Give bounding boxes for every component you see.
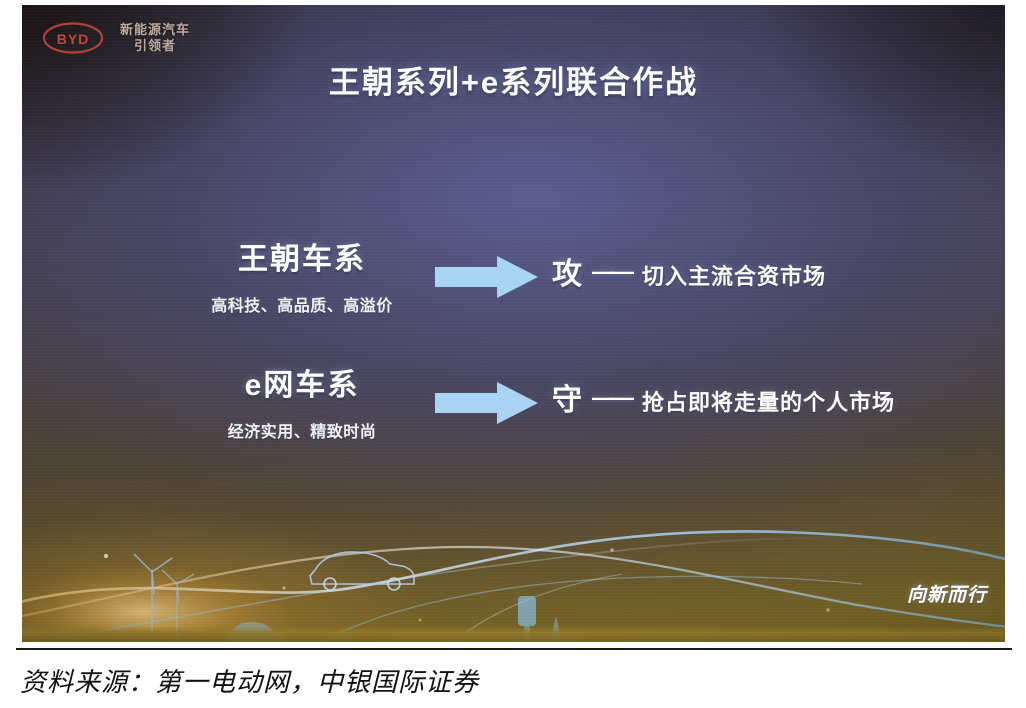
slide-background-gold-glow — [22, 476, 592, 642]
arrow-cell — [422, 367, 552, 425]
svg-text:BYD: BYD — [57, 31, 90, 47]
conclusion-text: 切入主流合资市场 — [642, 259, 826, 291]
series-attributes: 经济实用、精致时尚 — [182, 418, 422, 442]
slide-title: 王朝系列+e系列联合作战 — [22, 57, 1005, 102]
brand-slogan: 向新而行 — [907, 580, 987, 607]
conclusion-block: 攻 —— 切入主流合资市场 — [552, 241, 992, 293]
series-label-block: e网车系 经济实用、精致时尚 — [182, 367, 422, 442]
slide-background-floor-strip — [22, 626, 1005, 642]
conclusion-dash: —— — [592, 385, 632, 411]
figure-container: BYD 新能源汽车 引领者 王朝系列+e系列联合作战 王朝车系 高科技、高品质、… — [0, 0, 1026, 708]
series-attributes: 高科技、高品质、高溢价 — [182, 292, 422, 316]
presentation-slide-image: BYD 新能源汽车 引领者 王朝系列+e系列联合作战 王朝车系 高科技、高品质、… — [22, 5, 1005, 642]
series-name: 王朝车系 — [182, 243, 422, 278]
right-arrow-icon — [435, 255, 539, 299]
slide-header: BYD 新能源汽车 引领者 — [42, 21, 190, 55]
conclusion-keyword: 守 — [552, 375, 582, 419]
series-name: e网车系 — [182, 369, 422, 404]
right-arrow-icon — [435, 381, 539, 425]
strategy-row: e网车系 经济实用、精致时尚 守 —— 抢占即将走量的个人市场 — [182, 367, 992, 442]
byd-tagline-line-1: 新能源汽车 — [120, 22, 190, 38]
caption-divider — [16, 648, 1012, 650]
source-caption: 资料来源：第一电动网，中银国际证券 — [20, 662, 479, 699]
strategy-row: 王朝车系 高科技、高品质、高溢价 攻 —— 切入主流合资市场 — [182, 241, 992, 316]
series-label-block: 王朝车系 高科技、高品质、高溢价 — [182, 241, 422, 316]
arrow-cell — [422, 241, 552, 299]
conclusion-text: 抢占即将走量的个人市场 — [642, 385, 895, 417]
conclusion-dash: —— — [592, 259, 632, 285]
byd-tagline-line-2: 引领者 — [120, 38, 190, 54]
byd-tagline: 新能源汽车 引领者 — [120, 22, 190, 55]
conclusion-keyword: 攻 — [552, 249, 582, 293]
byd-oval-logo-icon: BYD — [42, 21, 104, 55]
conclusion-block: 守 —— 抢占即将走量的个人市场 — [552, 367, 992, 419]
slide-background-top-right-shadow — [631, 5, 1005, 260]
